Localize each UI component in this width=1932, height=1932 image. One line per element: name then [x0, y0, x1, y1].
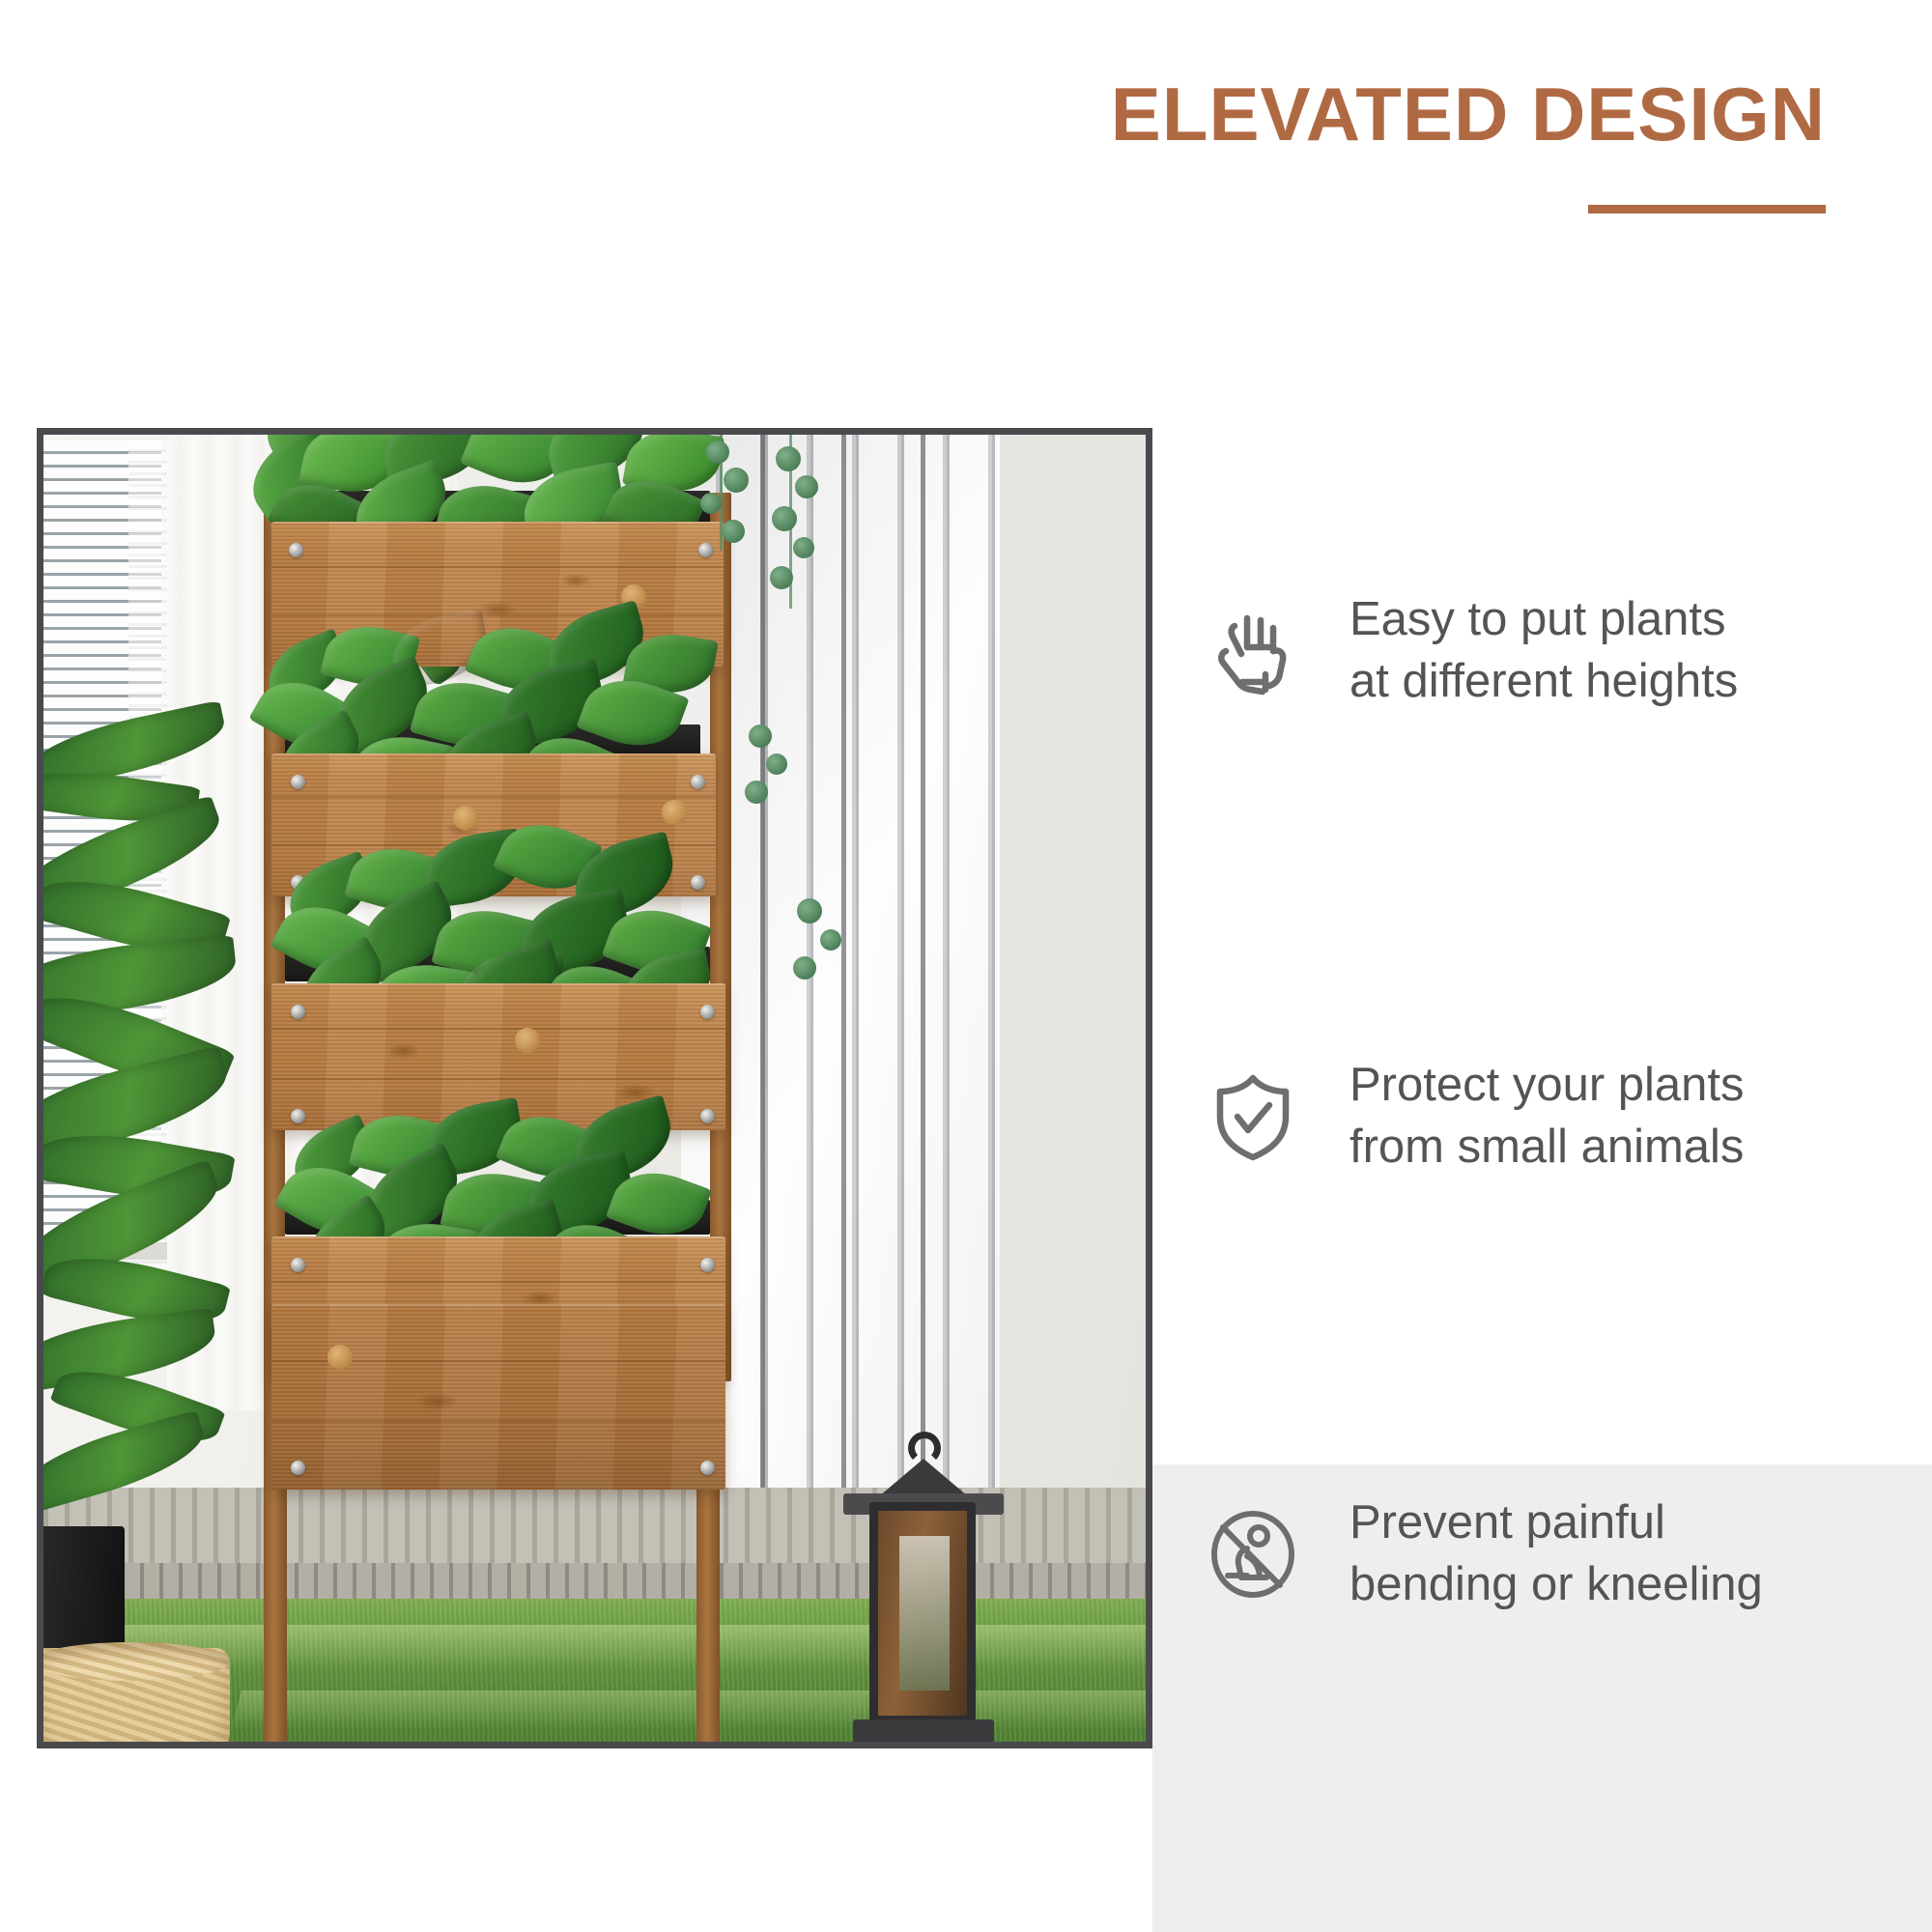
tier-2-dowel — [453, 806, 478, 831]
tier-1-screw — [289, 543, 303, 557]
feature-line-1: Easy to put plants — [1350, 593, 1726, 645]
product-photo — [37, 428, 1152, 1748]
tier-4-dowel — [327, 1345, 353, 1370]
tier-3-screw — [700, 1005, 715, 1019]
tier-2-screw — [691, 775, 705, 789]
feature-line-2: from small animals — [1350, 1117, 1745, 1179]
tier-1-screw — [698, 543, 713, 557]
feature-item-easy-to-put-plants: Easy to put plants at different heights — [1203, 589, 1918, 712]
tier-3-dowel — [515, 1028, 540, 1053]
feature-text-1: Protect your plants from small animals — [1350, 1055, 1745, 1178]
tier-4-front-panel — [271, 1304, 725, 1490]
lantern-base — [853, 1719, 994, 1742]
tier-4-screw — [291, 1461, 305, 1475]
tier-3-screw — [291, 1109, 305, 1123]
tier-2-dowel — [662, 800, 687, 825]
page-title: ELEVATED DESIGN — [850, 75, 1826, 155]
lantern-glass — [899, 1536, 950, 1690]
headline-block: ELEVATED DESIGN — [850, 75, 1826, 213]
tier-2-screw — [291, 775, 305, 789]
feature-text-0: Easy to put plants at different heights — [1350, 589, 1738, 712]
tier-3-screw — [291, 1005, 305, 1019]
product-photo-scene — [43, 435, 1146, 1742]
title-underline-rule — [1588, 205, 1826, 213]
feature-line-2: at different heights — [1350, 651, 1738, 713]
tier-3-screw — [700, 1109, 715, 1123]
grass-highlight-2 — [232, 1690, 1146, 1729]
tier-4-screw — [700, 1461, 715, 1475]
tier-2-screw — [691, 875, 705, 890]
tier-4-screw — [700, 1258, 715, 1272]
hand-icon — [1203, 601, 1303, 701]
feature-line-1: Protect your plants — [1350, 1059, 1745, 1111]
feature-line-1: Prevent painful — [1350, 1496, 1665, 1548]
feature-line-2: bending or kneeling — [1350, 1554, 1763, 1616]
shield-check-icon — [1203, 1066, 1303, 1167]
feature-item-prevent-bending: Prevent painful bending or kneeling — [1203, 1492, 1918, 1615]
tier-4-screw — [291, 1258, 305, 1272]
feature-text-2: Prevent painful bending or kneeling — [1350, 1492, 1763, 1615]
feature-item-protect-your-plants: Protect your plants from small animals — [1203, 1055, 1918, 1178]
no-kneeling-icon — [1203, 1504, 1303, 1605]
